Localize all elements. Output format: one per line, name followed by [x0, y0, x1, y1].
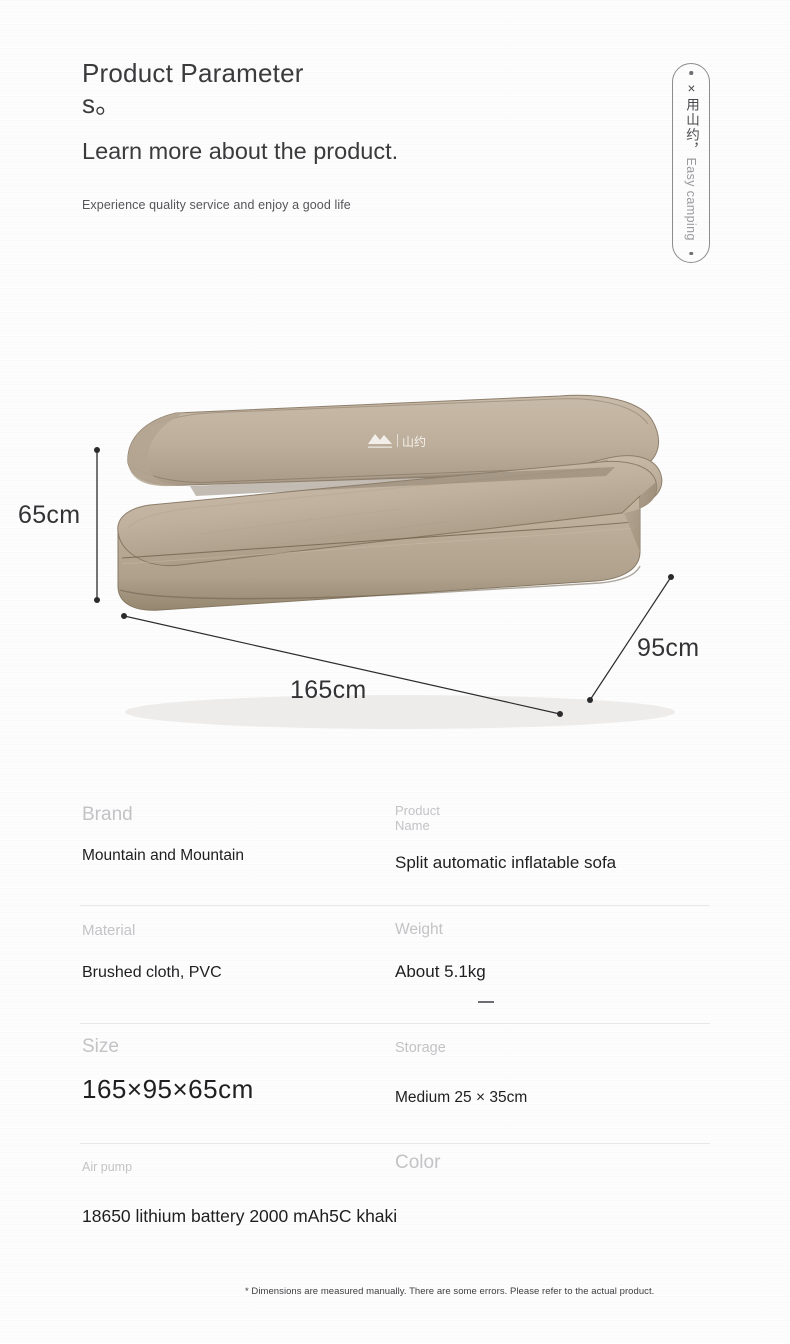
page-tagline: Experience quality service and enjoy a g… [82, 197, 502, 213]
badge-chinese-text: ×用山约 [684, 81, 699, 143]
spec-key: Weight [395, 923, 715, 937]
product-photo-section: 山约 65cm 165cm 95cm [0, 300, 790, 760]
weight-underline-artifact [478, 1001, 494, 1003]
spec-cell-weight: Weight About 5.1kg [395, 908, 715, 982]
spec-key: Size [82, 1040, 382, 1054]
page-subtitle: Learn more about the product. [82, 136, 434, 166]
spec-cell-storage: Storage Medium 25 × 35cm [395, 1026, 715, 1107]
page-title: Product Parameters。 [82, 58, 332, 120]
specifications-table: Brand Mountain and Mountain Product Name… [0, 790, 790, 1262]
spec-cell-material: Material Brushed cloth, PVC [82, 908, 382, 982]
spec-value: 165×95×65cm [82, 1074, 382, 1105]
spec-value: About 5.1kg [395, 962, 715, 982]
spec-value: 18650 lithium battery 2000 mAh5C khaki [82, 1206, 382, 1227]
badge-separator: ， [684, 143, 699, 158]
badge-vertical-text: ×用山约，Easy camping [682, 81, 700, 241]
vertical-brand-badge: ×用山约，Easy camping [672, 63, 710, 263]
spec-key: Storage [395, 1041, 715, 1055]
dimension-width-dot-right [557, 711, 563, 717]
spec-key: Brand [82, 804, 382, 826]
spec-key: Material [82, 924, 382, 938]
spec-key: Color [395, 1156, 715, 1170]
spec-value: Mountain and Mountain [82, 847, 382, 865]
dimension-width-dot-left [121, 613, 127, 619]
spec-key: Product Name [395, 804, 715, 833]
spec-key: Air pump [82, 1160, 382, 1174]
sofa-brand-logo: 山约 [368, 434, 426, 449]
badge-bottom-dot-icon [689, 252, 693, 256]
spec-divider [80, 1023, 710, 1024]
spec-value: Brushed cloth, PVC [82, 964, 382, 982]
spec-cell-color: Color [395, 1144, 715, 1170]
inflatable-sofa-illustration: 山约 [0, 300, 790, 760]
spec-row: Material Brushed cloth, PVC Weight About… [0, 908, 790, 1026]
spec-cell-product-name: Product Name Split automatic inflatable … [395, 790, 715, 873]
badge-latin-text: Easy camping [684, 158, 698, 241]
page-title-punctuation: 。 [95, 89, 121, 119]
dimension-height-dot-bottom [94, 597, 100, 603]
spec-value: Medium 25 × 35cm [395, 1089, 715, 1107]
spec-value: Split automatic inflatable sofa [395, 853, 715, 873]
spec-cell-air-pump: Air pump 18650 lithium battery 2000 mAh5… [82, 1144, 382, 1227]
spec-cell-size: Size 165×95×65cm [82, 1026, 382, 1105]
dimension-label-width: 165cm [290, 676, 367, 705]
product-parameters-page: Product Parameters。 Learn more about the… [0, 0, 790, 1344]
dimension-label-height: 65cm [18, 501, 80, 530]
page-header: Product Parameters。 Learn more about the… [82, 58, 502, 213]
dimension-label-depth: 95cm [637, 634, 699, 663]
spec-row: Brand Mountain and Mountain Product Name… [0, 790, 790, 908]
spec-row: Air pump 18650 lithium battery 2000 mAh5… [0, 1144, 790, 1262]
footnote-disclaimer: * Dimensions are measured manually. Ther… [245, 1285, 710, 1298]
dimension-depth-dot-top [668, 574, 674, 580]
logo-chinese-text: 山约 [402, 434, 426, 449]
mountain-logo-underline [368, 447, 392, 448]
spec-divider [80, 905, 710, 906]
dimension-height-dot-top [94, 447, 100, 453]
dimension-depth-dot-bottom [587, 697, 593, 703]
badge-top-dot-icon [689, 71, 693, 75]
spec-row: Size 165×95×65cm Storage Medium 25 × 35c… [0, 1026, 790, 1144]
logo-divider [397, 434, 398, 447]
spec-cell-brand: Brand Mountain and Mountain [82, 790, 382, 865]
